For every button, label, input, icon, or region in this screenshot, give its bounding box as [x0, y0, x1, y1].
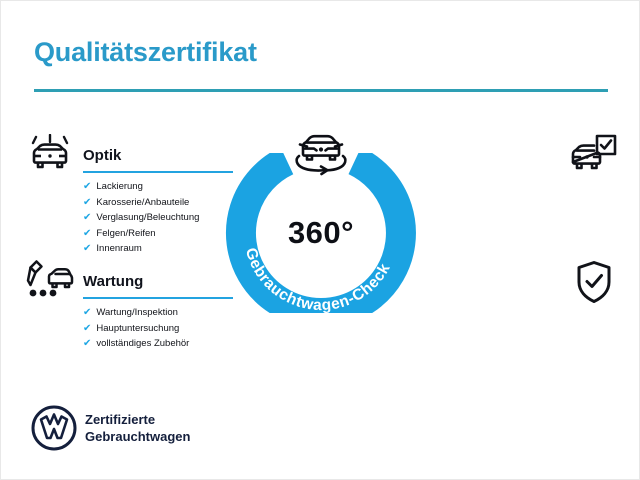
volkswagen-logo	[31, 405, 77, 451]
list-item: ✔Wartung/Inspektion	[83, 305, 189, 321]
list-item: ✔Karosserie/Anbauteile	[83, 195, 199, 211]
360-check-badge: Gebrauchtwagen-Check 360°	[225, 153, 417, 313]
checklist-optik: ✔Lackierung ✔Karosserie/Anbauteile ✔Verg…	[83, 179, 199, 257]
check-icon: ✔	[83, 243, 91, 254]
check-icon: ✔	[83, 338, 91, 349]
list-item-label: Karosserie/Anbauteile	[96, 197, 189, 208]
footer-brand-text: Zertifizierte Gebrauchtwagen	[85, 411, 190, 445]
checklist-wartung: ✔Wartung/Inspektion ✔Hauptuntersuchung ✔…	[83, 305, 189, 352]
section-divider-optik	[83, 171, 233, 173]
section-divider-wartung	[83, 297, 233, 299]
list-item: ✔Hauptuntersuchung	[83, 321, 189, 337]
footer-line-2: Gebrauchtwagen	[85, 428, 190, 445]
list-item-label: Felgen/Reifen	[96, 228, 155, 239]
list-item-label: Innenraum	[96, 243, 141, 254]
list-item-label: Verglasung/Beleuchtung	[96, 212, 199, 223]
section-heading-wartung: Wartung	[83, 273, 143, 290]
check-icon: ✔	[83, 307, 91, 318]
check-icon: ✔	[83, 197, 91, 208]
list-item: ✔Lackierung	[83, 179, 199, 195]
car-service-pen-icon	[25, 258, 75, 302]
footer-line-1: Zertifizierte	[85, 411, 190, 428]
certificate-page: Qualitätszertifikat	[0, 0, 640, 480]
car-checkbox-icon	[569, 134, 617, 176]
check-icon: ✔	[83, 323, 91, 334]
shield-check-icon	[576, 260, 612, 304]
list-item: ✔vollständiges Zubehör	[83, 336, 189, 352]
title-divider	[34, 89, 608, 92]
list-item-label: vollständiges Zubehör	[96, 338, 189, 349]
section-heading-optik: Optik	[83, 147, 121, 164]
list-item: ✔Felgen/Reifen	[83, 226, 199, 242]
page-title: Qualitätszertifikat	[34, 37, 257, 68]
list-item: ✔Verglasung/Beleuchtung	[83, 210, 199, 226]
list-item-label: Lackierung	[96, 181, 142, 192]
check-icon: ✔	[83, 228, 91, 239]
list-item: ✔Innenraum	[83, 241, 199, 257]
check-icon: ✔	[83, 181, 91, 192]
list-item-label: Wartung/Inspektion	[96, 307, 178, 318]
car-shine-icon	[26, 134, 74, 176]
check-icon: ✔	[83, 212, 91, 223]
list-item-label: Hauptuntersuchung	[96, 323, 179, 334]
